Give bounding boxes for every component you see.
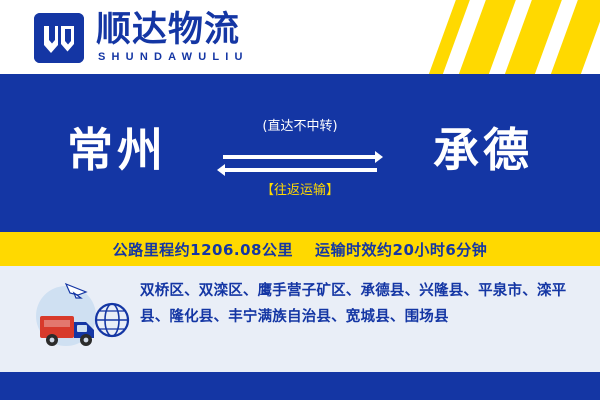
double-arrow-icon bbox=[215, 142, 385, 178]
destination-city: 承德 bbox=[388, 118, 578, 182]
bottom-blue-strip bbox=[0, 372, 600, 400]
route-middle: (直达不中转) 【往返运输】 bbox=[205, 116, 395, 226]
info-bar: 公路里程约1206.08公里 运输时效约20小时6分钟 bbox=[0, 232, 600, 266]
route-section: 常州 (直达不中转) 【往返运输】 承德 bbox=[0, 118, 600, 218]
company-name-pinyin: SHUNDAWULIU bbox=[98, 51, 249, 63]
route-note-top: (直达不中转) bbox=[205, 116, 395, 138]
route-note-bottom: 【往返运输】 bbox=[205, 180, 395, 202]
company-logo-icon bbox=[34, 13, 84, 63]
logistics-route-poster: 顺达物流 SHUNDAWULIU 常州 (直达不中转) 【往返运输】 bbox=[0, 0, 600, 400]
decorative-stripes bbox=[340, 0, 600, 74]
duration-text: 运输时效约20小时6分钟 bbox=[315, 239, 487, 260]
truck-globe-plane-icon bbox=[26, 276, 134, 362]
header: 顺达物流 SHUNDAWULIU bbox=[0, 0, 600, 74]
coverage-area-list: 双桥区、双滦区、鹰手营子矿区、承德县、兴隆县、平泉市、滦平县、隆化县、丰宁满族自… bbox=[140, 278, 580, 330]
distance-text: 公路里程约1206.08公里 bbox=[113, 239, 293, 260]
origin-city: 常州 bbox=[22, 118, 212, 182]
coverage-panel: 双桥区、双滦区、鹰手营子矿区、承德县、兴隆县、平泉市、滦平县、隆化县、丰宁满族自… bbox=[0, 266, 600, 372]
company-name: 顺达物流 bbox=[96, 10, 240, 50]
